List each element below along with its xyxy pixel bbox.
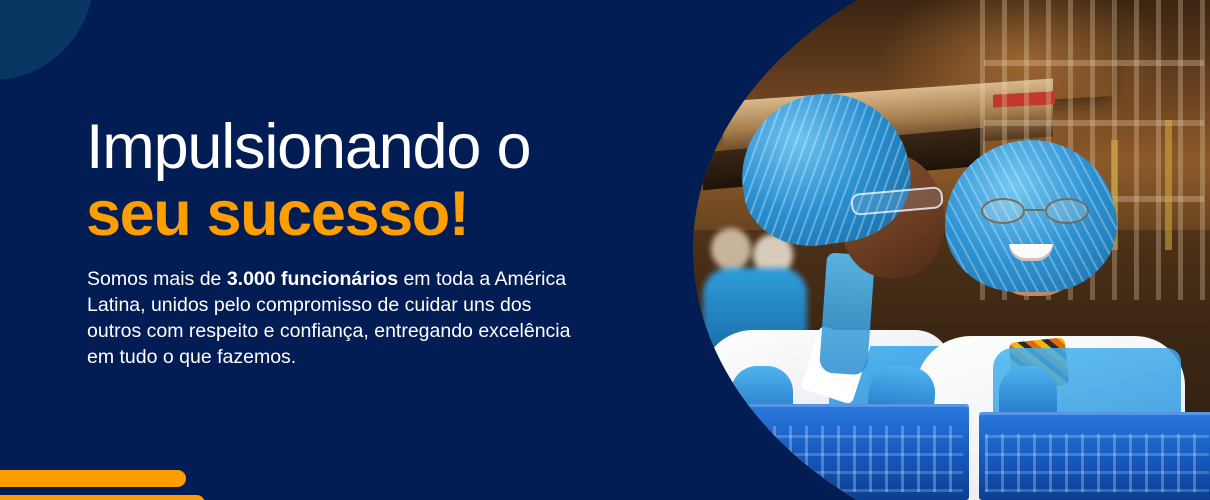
description-prefix: Somos mais de [87,268,227,290]
crate-mesh [725,426,963,492]
eyeglass-bridge [1025,209,1045,211]
photo-scene [693,0,1210,500]
banner-description: Somos mais de 3.000 funcionários em toda… [87,266,587,370]
eyeglasses [981,198,1089,224]
crate [979,412,1210,500]
factory-rail [984,60,1204,66]
headline-line-1: Impulsionando o [86,116,530,178]
headline-line-2: seu sucesso! [86,183,530,245]
corner-circle-decoration [0,0,94,80]
crate [719,404,969,500]
crate-mesh [985,434,1209,492]
page-title: Impulsionando o seu sucesso! [86,116,530,246]
description-highlight: 3.000 funcionários [227,268,398,290]
hero-banner: Impulsionando o seu sucesso! Somos mais … [0,0,1210,500]
hero-photo [693,0,1210,500]
eyeglass-lens [981,198,1025,224]
banner-content: Impulsionando o seu sucesso! Somos mais … [86,0,646,500]
eyeglass-lens [1045,198,1089,224]
blue-plastic-crates [693,380,1210,500]
